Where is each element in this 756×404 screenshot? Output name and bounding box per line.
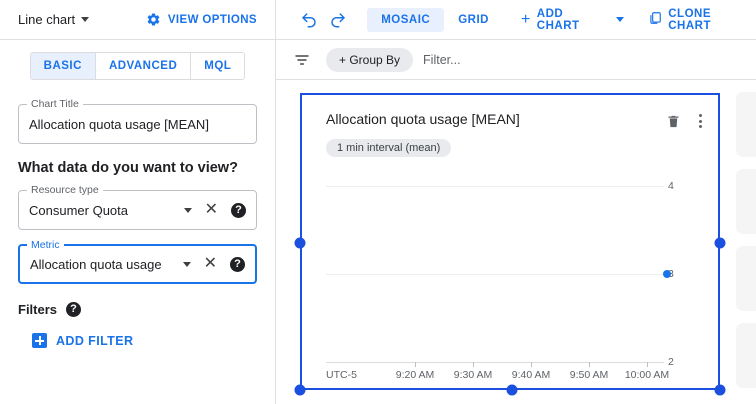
metric-legend: Metric (27, 239, 64, 251)
x-tick-mark-1 (415, 362, 416, 367)
y-tick-label-2: 2 (668, 356, 684, 368)
filters-header: Filters ? (18, 302, 257, 317)
resource-type-value[interactable]: Consumer Quota (29, 203, 178, 218)
x-tick-mark-3 (531, 362, 532, 367)
resize-handle-left-middle[interactable] (295, 238, 306, 249)
redo-icon[interactable] (324, 5, 354, 35)
layout-mode-grid[interactable]: GRID (444, 8, 503, 32)
filter-bar: + Group By Filter... (276, 40, 756, 80)
clone-chart-label: CLONE CHART (668, 8, 756, 32)
clone-chart-button[interactable]: CLONE CHART (648, 8, 756, 32)
section-heading: What data do you want to view? (18, 160, 257, 176)
add-filter-label: ADD FILTER (56, 334, 133, 348)
clone-icon (648, 11, 662, 28)
add-chart-label: ADD CHART (537, 8, 608, 32)
layout-mode-grid-label: GRID (458, 14, 489, 26)
x-tick-label-5: 10:00 AM (625, 369, 669, 381)
chart-type-dropdown[interactable]: Line chart (18, 12, 89, 27)
chart-plot-area: 4 3 2 (302, 169, 718, 388)
x-tick-label-2: 9:30 AM (454, 369, 493, 381)
timezone-label: UTC-5 (326, 369, 357, 381)
stub-card-2[interactable] (736, 169, 756, 234)
metric-value[interactable]: Allocation quota usage (30, 257, 177, 272)
metric-clear-icon[interactable]: ✕ (204, 256, 217, 272)
chart-card-actions (666, 111, 706, 130)
metric-icons: ✕ ? (177, 256, 245, 272)
plus-icon: + (521, 12, 531, 28)
group-by-chip[interactable]: + Group By (326, 48, 413, 72)
chart-editor-panel: Line chart VIEW OPTIONS BASIC ADVANCED M (0, 0, 276, 404)
filters-label: Filters (18, 302, 57, 317)
add-filter-button[interactable]: ADD FILTER (32, 333, 257, 348)
resize-handle-right-middle[interactable] (715, 238, 726, 249)
dashboard-toolbar: MOSAIC GRID + ADD CHART CLONE CHART (276, 0, 756, 40)
dashboard-canvas: Allocation quota usage [MEAN] 1 min inte… (276, 81, 756, 404)
stub-card-1[interactable] (736, 92, 756, 157)
filters-help-icon[interactable]: ? (66, 302, 81, 317)
chevron-down-icon (81, 17, 89, 22)
resize-handle-bottom-center[interactable] (507, 385, 518, 396)
editor-tabs-row: BASIC ADVANCED MQL (0, 40, 275, 80)
metric-help-icon[interactable]: ? (230, 257, 245, 272)
undo-icon[interactable] (294, 5, 324, 35)
layout-mode-mosaic[interactable]: MOSAIC (367, 8, 444, 32)
layout-mode-mosaic-label: MOSAIC (381, 14, 430, 26)
resource-type-legend: Resource type (27, 184, 103, 196)
metric-field[interactable]: Metric Allocation quota usage ✕ ? (18, 244, 257, 284)
filter-lines-icon[interactable] (288, 48, 316, 72)
chart-type-label: Line chart (18, 12, 75, 27)
chart-title-field[interactable]: Chart Title Allocation quota usage [MEAN… (18, 104, 257, 144)
editor-tabs: BASIC ADVANCED MQL (30, 52, 246, 80)
editor-body: Chart Title Allocation quota usage [MEAN… (0, 80, 275, 348)
trash-icon[interactable] (666, 114, 681, 129)
kebab-menu-icon[interactable] (695, 112, 706, 130)
tab-mql-label: MQL (204, 60, 231, 72)
y-tick-label-4: 4 (668, 180, 684, 192)
gear-icon (146, 12, 161, 27)
x-axis-line (326, 362, 664, 363)
view-options-button[interactable]: VIEW OPTIONS (146, 12, 261, 27)
gridline-4 (326, 186, 664, 187)
resource-type-field[interactable]: Resource type Consumer Quota ✕ ? (18, 190, 257, 230)
x-tick-label-3: 9:40 AM (512, 369, 551, 381)
x-tick-label-4: 9:50 AM (570, 369, 609, 381)
chart-card-header: Allocation quota usage [MEAN] (302, 95, 718, 130)
x-tick-mark-2 (473, 362, 474, 367)
chart-card-title: Allocation quota usage [MEAN] (326, 111, 520, 127)
metric-chevron-down-icon[interactable] (183, 262, 191, 267)
data-point[interactable] (663, 270, 671, 278)
x-tick-label-1: 9:20 AM (396, 369, 435, 381)
chevron-down-icon (616, 17, 624, 22)
plus-icon (32, 333, 47, 348)
chart-title-input[interactable]: Allocation quota usage [MEAN] (29, 117, 246, 132)
resource-type-chevron-down-icon[interactable] (184, 208, 192, 213)
tab-advanced[interactable]: ADVANCED (96, 53, 191, 79)
app-root: Line chart VIEW OPTIONS BASIC ADVANCED M (0, 0, 756, 404)
x-tick-mark-5 (647, 362, 648, 367)
dashboard-panel: MOSAIC GRID + ADD CHART CLONE CHART (276, 0, 756, 404)
gridline-3 (326, 274, 664, 275)
tab-mql[interactable]: MQL (191, 53, 244, 79)
chart-title-legend: Chart Title (27, 98, 83, 110)
x-tick-mark-4 (589, 362, 590, 367)
tab-basic-label: BASIC (44, 60, 82, 72)
stub-card-3[interactable] (736, 246, 756, 311)
chart-card[interactable]: Allocation quota usage [MEAN] 1 min inte… (300, 93, 720, 390)
filter-input[interactable]: Filter... (423, 53, 461, 67)
resource-type-clear-icon[interactable]: ✕ (205, 202, 218, 218)
resource-type-help-icon[interactable]: ? (231, 203, 246, 218)
resource-type-icons: ✕ ? (178, 202, 246, 218)
view-options-label: VIEW OPTIONS (168, 14, 257, 26)
interval-chip: 1 min interval (mean) (326, 139, 451, 157)
resize-handle-bottom-right[interactable] (715, 385, 726, 396)
resize-handle-bottom-left[interactable] (295, 385, 306, 396)
stub-card-4[interactable] (736, 323, 756, 388)
editor-header: Line chart VIEW OPTIONS (0, 0, 275, 40)
layout-mode-group: MOSAIC GRID (367, 8, 503, 32)
tab-basic[interactable]: BASIC (31, 53, 96, 79)
tab-advanced-label: ADVANCED (109, 60, 177, 72)
add-chart-button[interactable]: + ADD CHART (521, 8, 624, 32)
